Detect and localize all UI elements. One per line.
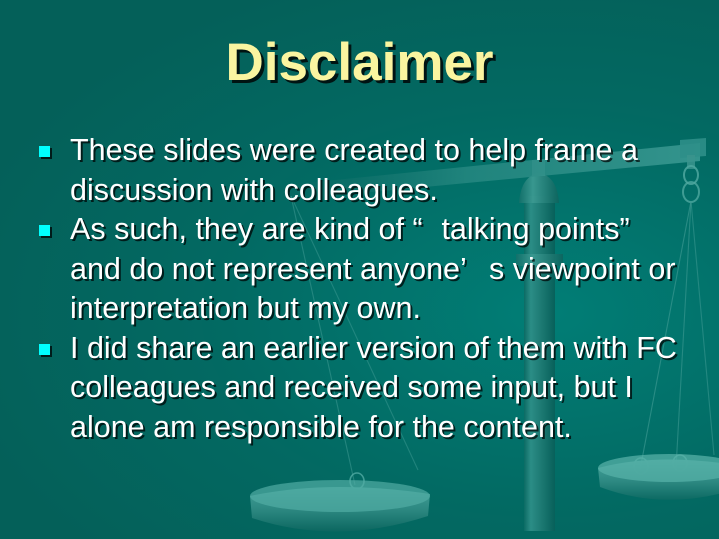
bullet-text: These slides were created to help frame …	[70, 131, 688, 210]
list-item: As such, they are kind of “talking point…	[36, 210, 688, 329]
bullet-list: These slides were created to help frame …	[36, 131, 688, 447]
bullet-text-segment: talking points	[441, 212, 619, 246]
bullet-text-segment: As such, they are kind of	[70, 212, 412, 246]
square-bullet-icon	[39, 225, 50, 236]
presentation-slide: Disclaimer These slides were created to …	[0, 0, 719, 539]
scale-pan-right	[598, 454, 719, 500]
list-item: These slides were created to help frame …	[36, 131, 688, 210]
list-item: I did share an earlier version of them w…	[36, 329, 688, 448]
bullet-text-segment: and do not represent anyone	[70, 252, 460, 286]
close-quote-glyph: ”	[619, 210, 648, 250]
open-quote-glyph: “	[412, 210, 441, 250]
bullet-text: I did share an earlier version of them w…	[70, 329, 688, 448]
scale-pan-left	[250, 480, 430, 532]
bullet-text: As such, they are kind of “talking point…	[70, 210, 688, 329]
slide-title: Disclaimer	[0, 36, 719, 89]
square-bullet-icon	[39, 146, 50, 157]
apostrophe-glyph: ’	[460, 250, 489, 290]
square-bullet-icon	[39, 344, 50, 355]
